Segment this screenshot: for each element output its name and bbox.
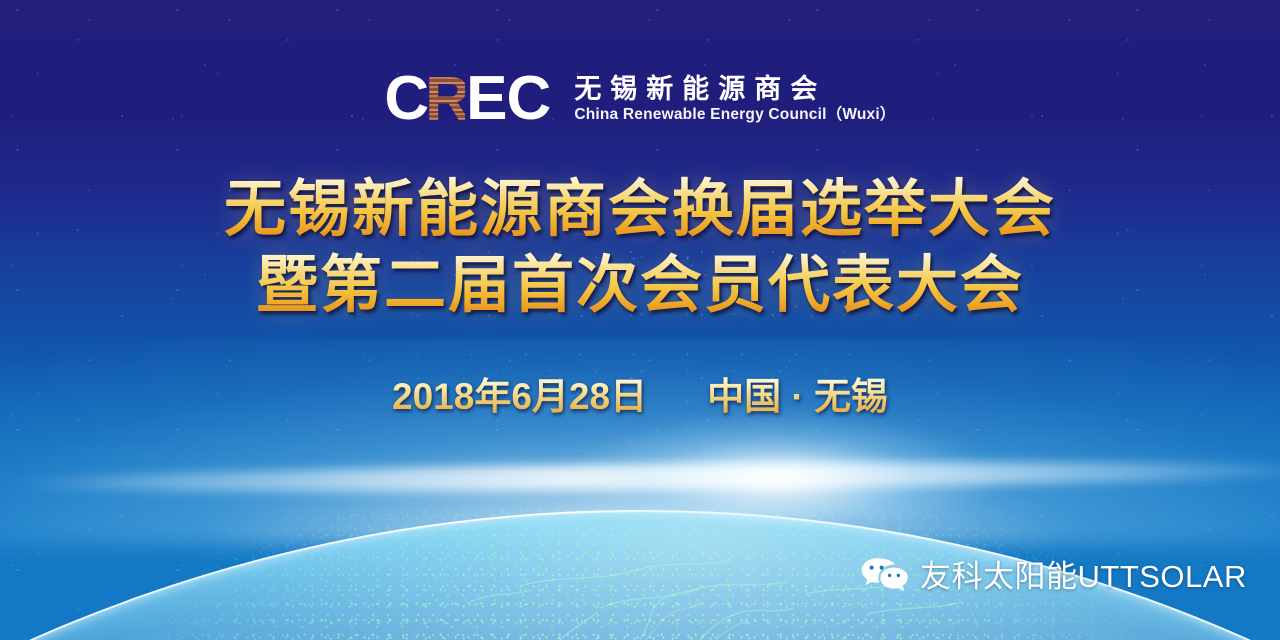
event-title: 无锡新能源商会换届选举大会 暨第二届首次会员代表大会 [0, 172, 1280, 324]
wechat-watermark: 友科太阳能UTTSOLAR [860, 556, 1247, 598]
cec-logo: C R E C 无锡新能源商会 China Renewable Energy C… [0, 68, 1280, 130]
logo-letter-e: E [466, 68, 506, 130]
logo-letter-c2: C [507, 68, 551, 130]
event-title-line-1: 无锡新能源商会换届选举大会 [0, 172, 1280, 248]
event-date: 2018年6月28日 [392, 374, 647, 420]
logo-letter-c1: C [384, 68, 428, 130]
org-name-english: China Renewable Energy Council（Wuxi） [574, 106, 895, 123]
cec-wordmark: C R E C [384, 68, 550, 130]
limb-light-streak [0, 457, 1280, 497]
org-name-block: 无锡新能源商会 China Renewable Energy Council（W… [574, 75, 895, 123]
logo-letter-r: R [425, 70, 465, 130]
org-name-chinese: 无锡新能源商会 [574, 75, 895, 103]
conference-banner: C R E C 无锡新能源商会 China Renewable Energy C… [0, 0, 1280, 640]
event-meta: 2018年6月28日 中国 · 无锡 [0, 374, 1280, 420]
striped-solar-panel-r-letter: R [425, 70, 465, 130]
wechat-icon [860, 556, 910, 598]
watermark-label: 友科太阳能UTTSOLAR [920, 556, 1247, 598]
event-location: 中国 · 无锡 [707, 374, 888, 420]
event-title-line-2: 暨第二届首次会员代表大会 [0, 248, 1280, 324]
